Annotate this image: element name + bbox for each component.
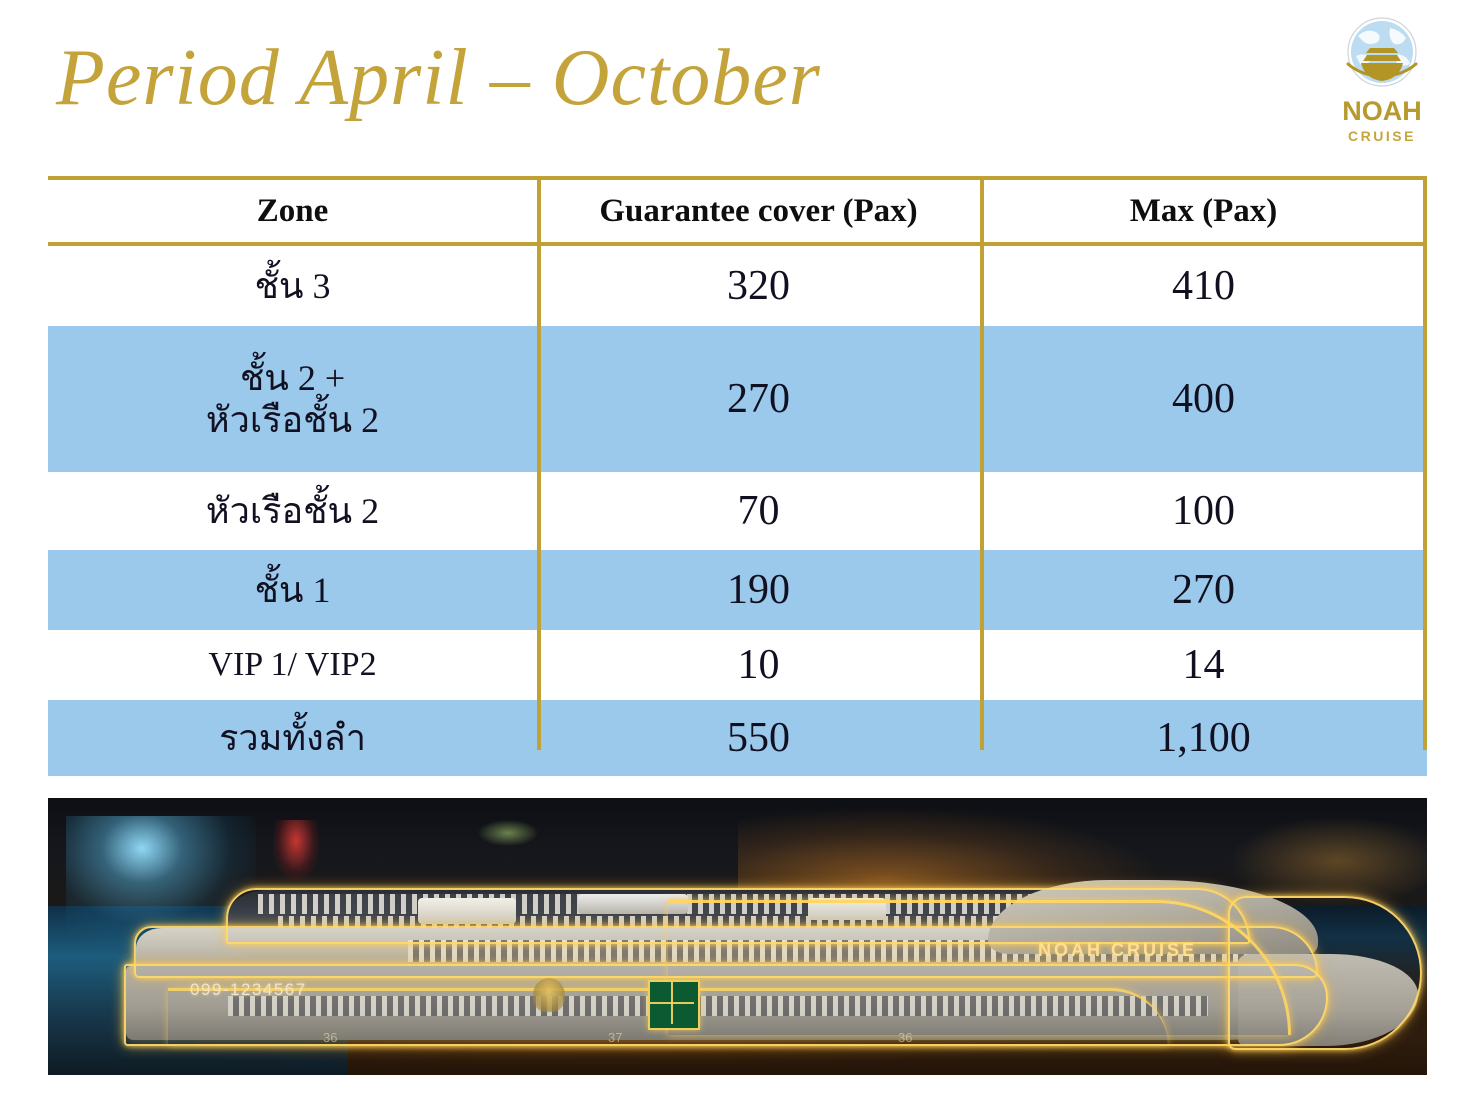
cell-max: 410 — [980, 246, 1427, 326]
table-right-border — [1423, 176, 1427, 750]
cell-zone: ชั้น 3 — [48, 246, 537, 326]
cell-guarantee: 320 — [537, 246, 980, 326]
red-light-reflection — [273, 820, 319, 880]
table-row: ชั้น 3 320 410 — [48, 246, 1427, 326]
cell-max: 1,100 — [980, 700, 1427, 776]
column-header-zone: Zone — [48, 180, 537, 242]
column-header-max: Max (Pax) — [980, 180, 1427, 242]
table-row: VIP 1/ VIP2 10 14 — [48, 630, 1427, 700]
table-row: ชั้น 2 + หัวเรือชั้น 2 270 400 — [48, 326, 1427, 472]
table-top-border — [48, 176, 1427, 180]
noah-cruise-night-photo: 099-1234567 NOAH CRUISE 36 37 36 — [48, 798, 1427, 1075]
table-row: หัวเรือชั้น 2 70 100 — [48, 472, 1427, 550]
logo-tagline-text: CRUISE — [1322, 129, 1442, 143]
cell-max: 400 — [980, 326, 1427, 472]
cell-guarantee: 270 — [537, 326, 980, 472]
cell-zone: VIP 1/ VIP2 — [48, 630, 537, 700]
page-title: Period April – October — [56, 38, 821, 118]
cell-max: 270 — [980, 550, 1427, 630]
hull-emblem — [533, 978, 565, 1012]
table-header-border — [48, 242, 1427, 246]
cell-max: 14 — [980, 630, 1427, 700]
green-window — [648, 980, 700, 1030]
cell-zone: ชั้น 1 — [48, 550, 537, 630]
cell-guarantee: 190 — [537, 550, 980, 630]
cell-guarantee: 10 — [537, 630, 980, 700]
hull-phone-number: 099-1234567 — [190, 980, 307, 1000]
table-row: ชั้น 1 190 270 — [48, 550, 1427, 630]
cell-guarantee: 70 — [537, 472, 980, 550]
waterline-mark: 36 — [898, 1030, 912, 1045]
cruise-ship: 099-1234567 NOAH CRUISE 36 37 36 — [108, 884, 1398, 1044]
column-header-guarantee: Guarantee cover (Pax) — [537, 180, 980, 242]
green-lamp-glow — [478, 820, 538, 846]
waterline-mark: 37 — [608, 1030, 622, 1045]
table-column-divider-2 — [980, 176, 984, 750]
cell-zone: รวมทั้งลำ — [48, 700, 537, 776]
cell-zone-line2: หัวเรือชั้น 2 — [206, 400, 379, 440]
table-row-total: รวมทั้งลำ 550 1,100 — [48, 700, 1427, 776]
cell-zone-line1: ชั้น 2 + — [240, 358, 345, 398]
pax-capacity-table: Zone Guarantee cover (Pax) Max (Pax) ชั้… — [48, 176, 1427, 750]
cell-max: 100 — [980, 472, 1427, 550]
cell-zone: หัวเรือชั้น 2 — [48, 472, 537, 550]
cell-zone: ชั้น 2 + หัวเรือชั้น 2 — [48, 326, 537, 472]
waterline-mark: 36 — [323, 1030, 337, 1045]
hull-brand-name: NOAH CRUISE — [1038, 940, 1197, 961]
table-column-divider-1 — [537, 176, 541, 750]
cell-guarantee: 550 — [537, 700, 980, 776]
table-header-row: Zone Guarantee cover (Pax) Max (Pax) — [48, 180, 1427, 242]
brand-logo: NOAH CRUISE — [1322, 14, 1442, 166]
logo-brand-text: NOAH — [1322, 98, 1442, 125]
globe-ship-icon — [1342, 14, 1422, 94]
